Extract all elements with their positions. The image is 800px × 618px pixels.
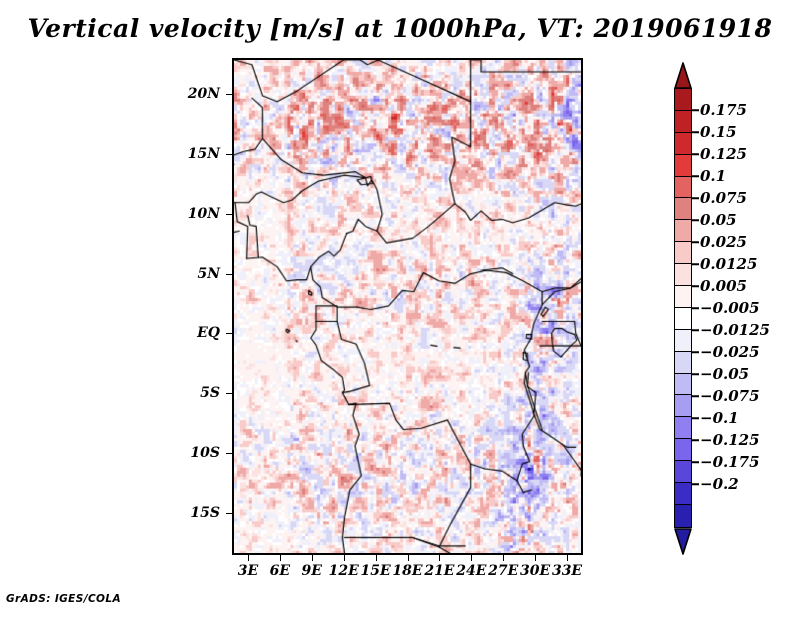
x-axis-tick: [471, 555, 472, 561]
y-axis-tick: [226, 333, 232, 334]
colorbar-label: −0.025: [700, 343, 760, 361]
colorbar-tick: [692, 329, 699, 331]
x-axis-tick: [344, 555, 345, 561]
colorbar-tick: [692, 373, 699, 375]
y-axis-label: 10S: [190, 445, 220, 461]
colorbar-band: [675, 417, 691, 439]
colorbar-band: [675, 286, 691, 308]
colorbar-tick: [692, 219, 699, 221]
y-axis-label: 5N: [197, 266, 220, 282]
y-axis-tick: [226, 393, 232, 394]
colorbar-label: −0.005: [700, 299, 760, 317]
colorbar-band: [675, 483, 691, 505]
colorbar-label: −0.0125: [700, 321, 770, 339]
grads-credit: GrADS: IGES/COLA: [6, 593, 121, 605]
country-borders-overlay: [234, 60, 581, 553]
map-frame: [232, 58, 583, 555]
colorbar-tick: [692, 175, 699, 177]
y-axis-tick: [226, 94, 232, 95]
y-axis-tick: [226, 513, 232, 514]
colorbar-label: 0.125: [700, 145, 747, 163]
x-axis-label: 12E: [329, 563, 359, 579]
colorbar-band: [675, 352, 691, 374]
colorbar-tick: [692, 307, 699, 309]
x-axis-label: 33E: [552, 563, 582, 579]
colorbar-band: [675, 395, 691, 417]
colorbar-tick: [692, 153, 699, 155]
colorbar-band: [675, 374, 691, 396]
x-axis-tick: [248, 555, 249, 561]
x-axis-label: 27E: [488, 563, 518, 579]
colorbar-band: [675, 89, 691, 111]
x-axis-label: 3E: [238, 563, 258, 579]
colorbar-band: [675, 308, 691, 330]
colorbar-tick: [692, 395, 699, 397]
colorbar-label: −0.175: [700, 453, 760, 471]
y-axis-label: 10N: [188, 206, 220, 222]
colorbar-bottom-arrow: [674, 528, 692, 555]
colorbar-band: [675, 242, 691, 264]
colorbar-tick: [692, 439, 699, 441]
x-axis-label: 18E: [392, 563, 422, 579]
y-axis-tick: [226, 453, 232, 454]
colorbar-label: −0.125: [700, 431, 760, 449]
colorbar-label: −0.1: [700, 409, 739, 427]
colorbar-label: −0.075: [700, 387, 760, 405]
colorbar-band: [675, 330, 691, 352]
x-axis-label: 30E: [520, 563, 550, 579]
colorbar-band: [675, 198, 691, 220]
colorbar-tick: [692, 131, 699, 133]
colorbar-top-arrow: [674, 62, 692, 89]
x-axis-tick: [408, 555, 409, 561]
colorbar-label: 0.075: [700, 189, 747, 207]
colorbar-band: [675, 155, 691, 177]
colorbar-label: 0.1: [700, 167, 726, 185]
y-axis-label: 15N: [188, 146, 220, 162]
colorbar-label: 0.05: [700, 211, 737, 229]
y-axis-label: 20N: [188, 86, 220, 102]
colorbar-bands: [674, 88, 692, 528]
colorbar-tick: [692, 263, 699, 265]
colorbar-band: [675, 177, 691, 199]
map-panel: 3E6E9E12E15E18E21E24E27E30E33E20N15N10N5…: [232, 58, 583, 555]
colorbar-label: −0.2: [700, 475, 739, 493]
colorbar: 0.1750.150.1250.10.0750.050.0250.01250.0…: [674, 62, 692, 554]
colorbar-tick: [692, 197, 699, 199]
x-axis-tick: [376, 555, 377, 561]
x-axis-label: 15E: [361, 563, 391, 579]
colorbar-label: 0.0125: [700, 255, 757, 273]
colorbar-band: [675, 505, 691, 527]
x-axis-tick: [312, 555, 313, 561]
x-axis-tick: [439, 555, 440, 561]
x-axis-tick: [280, 555, 281, 561]
x-axis-label: 6E: [270, 563, 290, 579]
colorbar-tick: [692, 417, 699, 419]
colorbar-band: [675, 264, 691, 286]
colorbar-tick: [692, 241, 699, 243]
x-axis-tick: [535, 555, 536, 561]
colorbar-band: [675, 133, 691, 155]
colorbar-tick: [692, 285, 699, 287]
y-axis-tick: [226, 214, 232, 215]
y-axis-tick: [226, 274, 232, 275]
y-axis-label: 15S: [190, 505, 220, 521]
colorbar-band: [675, 439, 691, 461]
colorbar-tick: [692, 109, 699, 111]
y-axis-label: EQ: [197, 325, 220, 341]
colorbar-label: 0.025: [700, 233, 747, 251]
x-axis-tick: [503, 555, 504, 561]
page-title: Vertical velocity [m/s] at 1000hPa, VT: …: [0, 14, 800, 43]
colorbar-label: 0.15: [700, 123, 737, 141]
colorbar-band: [675, 461, 691, 483]
colorbar-tick: [692, 351, 699, 353]
y-axis-label: 5S: [200, 385, 220, 401]
x-axis-label: 9E: [302, 563, 322, 579]
x-axis-label: 21E: [424, 563, 454, 579]
colorbar-tick: [692, 461, 699, 463]
colorbar-label: −0.05: [700, 365, 749, 383]
colorbar-band: [675, 220, 691, 242]
colorbar-label: 0.175: [700, 101, 747, 119]
x-axis-tick: [567, 555, 568, 561]
colorbar-tick: [692, 483, 699, 485]
x-axis-label: 24E: [456, 563, 486, 579]
colorbar-label: 0.005: [700, 277, 747, 295]
y-axis-tick: [226, 154, 232, 155]
colorbar-band: [675, 111, 691, 133]
